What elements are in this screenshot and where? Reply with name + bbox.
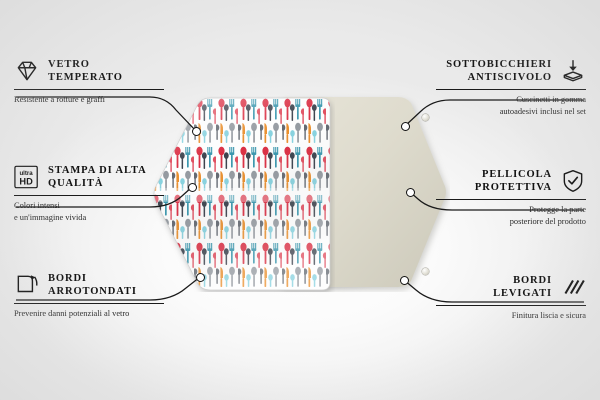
divider — [14, 195, 164, 196]
callout-dot-bordi-arrotondati — [196, 273, 205, 282]
divider — [436, 199, 586, 200]
divider — [14, 303, 164, 304]
feature-subtitle: Cuscinetti in gomma autoadesivi inclusi … — [406, 94, 586, 118]
feature-bordi-arrotondati: BORDI ARROTONDATI Prevenire danni potenz… — [14, 272, 194, 320]
feature-vetro-temperato: VETRO TEMPERATO Resistente a rotture e g… — [14, 58, 194, 106]
feature-subtitle: Colori intensi e un'immagine vivida — [14, 200, 194, 224]
feature-subtitle: Prevenire danni potenziali al vetro — [14, 308, 194, 320]
divider — [436, 305, 586, 306]
feature-title: BORDI LEVIGATI — [493, 274, 552, 300]
svg-text:HD: HD — [19, 177, 33, 187]
feature-pellicola-protettiva: PELLICOLA PROTETTIVA Protegge la parte p… — [406, 168, 586, 229]
feature-subtitle: Finitura liscia e sicura — [406, 310, 586, 322]
feature-subtitle: Resistente a rotture e graffi — [14, 94, 194, 106]
feature-stampa-alta-qualita: ultra HD STAMPA DI ALTA QUALITÀ Colori i… — [14, 164, 194, 225]
polished-edge-icon — [560, 274, 586, 300]
callout-dot-sottobicchieri — [401, 122, 410, 131]
feature-title: BORDI ARROTONDATI — [48, 272, 137, 298]
feature-subtitle: Protegge la parte posteriore del prodott… — [406, 204, 586, 228]
anti-slip-pad-icon — [560, 58, 586, 84]
diamond-icon — [14, 58, 40, 84]
feature-title: SOTTOBICCHIERI ANTISCIVOLO — [446, 58, 552, 84]
rounded-corner-icon — [14, 272, 40, 298]
infographic-canvas: VETRO TEMPERATO Resistente a rotture e g… — [0, 0, 600, 400]
divider — [436, 89, 586, 90]
feature-title: PELLICOLA PROTETTIVA — [475, 168, 552, 194]
shield-check-icon — [560, 168, 586, 194]
feature-bordi-levigati: BORDI LEVIGATI Finitura liscia e sicura — [406, 274, 586, 322]
ultra-hd-badge-icon: ultra HD — [14, 164, 40, 190]
feature-sottobicchieri-antiscivolo: SOTTOBICCHIERI ANTISCIVOLO Cuscinetti in… — [406, 58, 586, 119]
divider — [14, 89, 164, 90]
callout-dot-vetro-temperato — [192, 127, 201, 136]
feature-title: VETRO TEMPERATO — [48, 58, 123, 84]
feature-title: STAMPA DI ALTA QUALITÀ — [48, 164, 147, 190]
